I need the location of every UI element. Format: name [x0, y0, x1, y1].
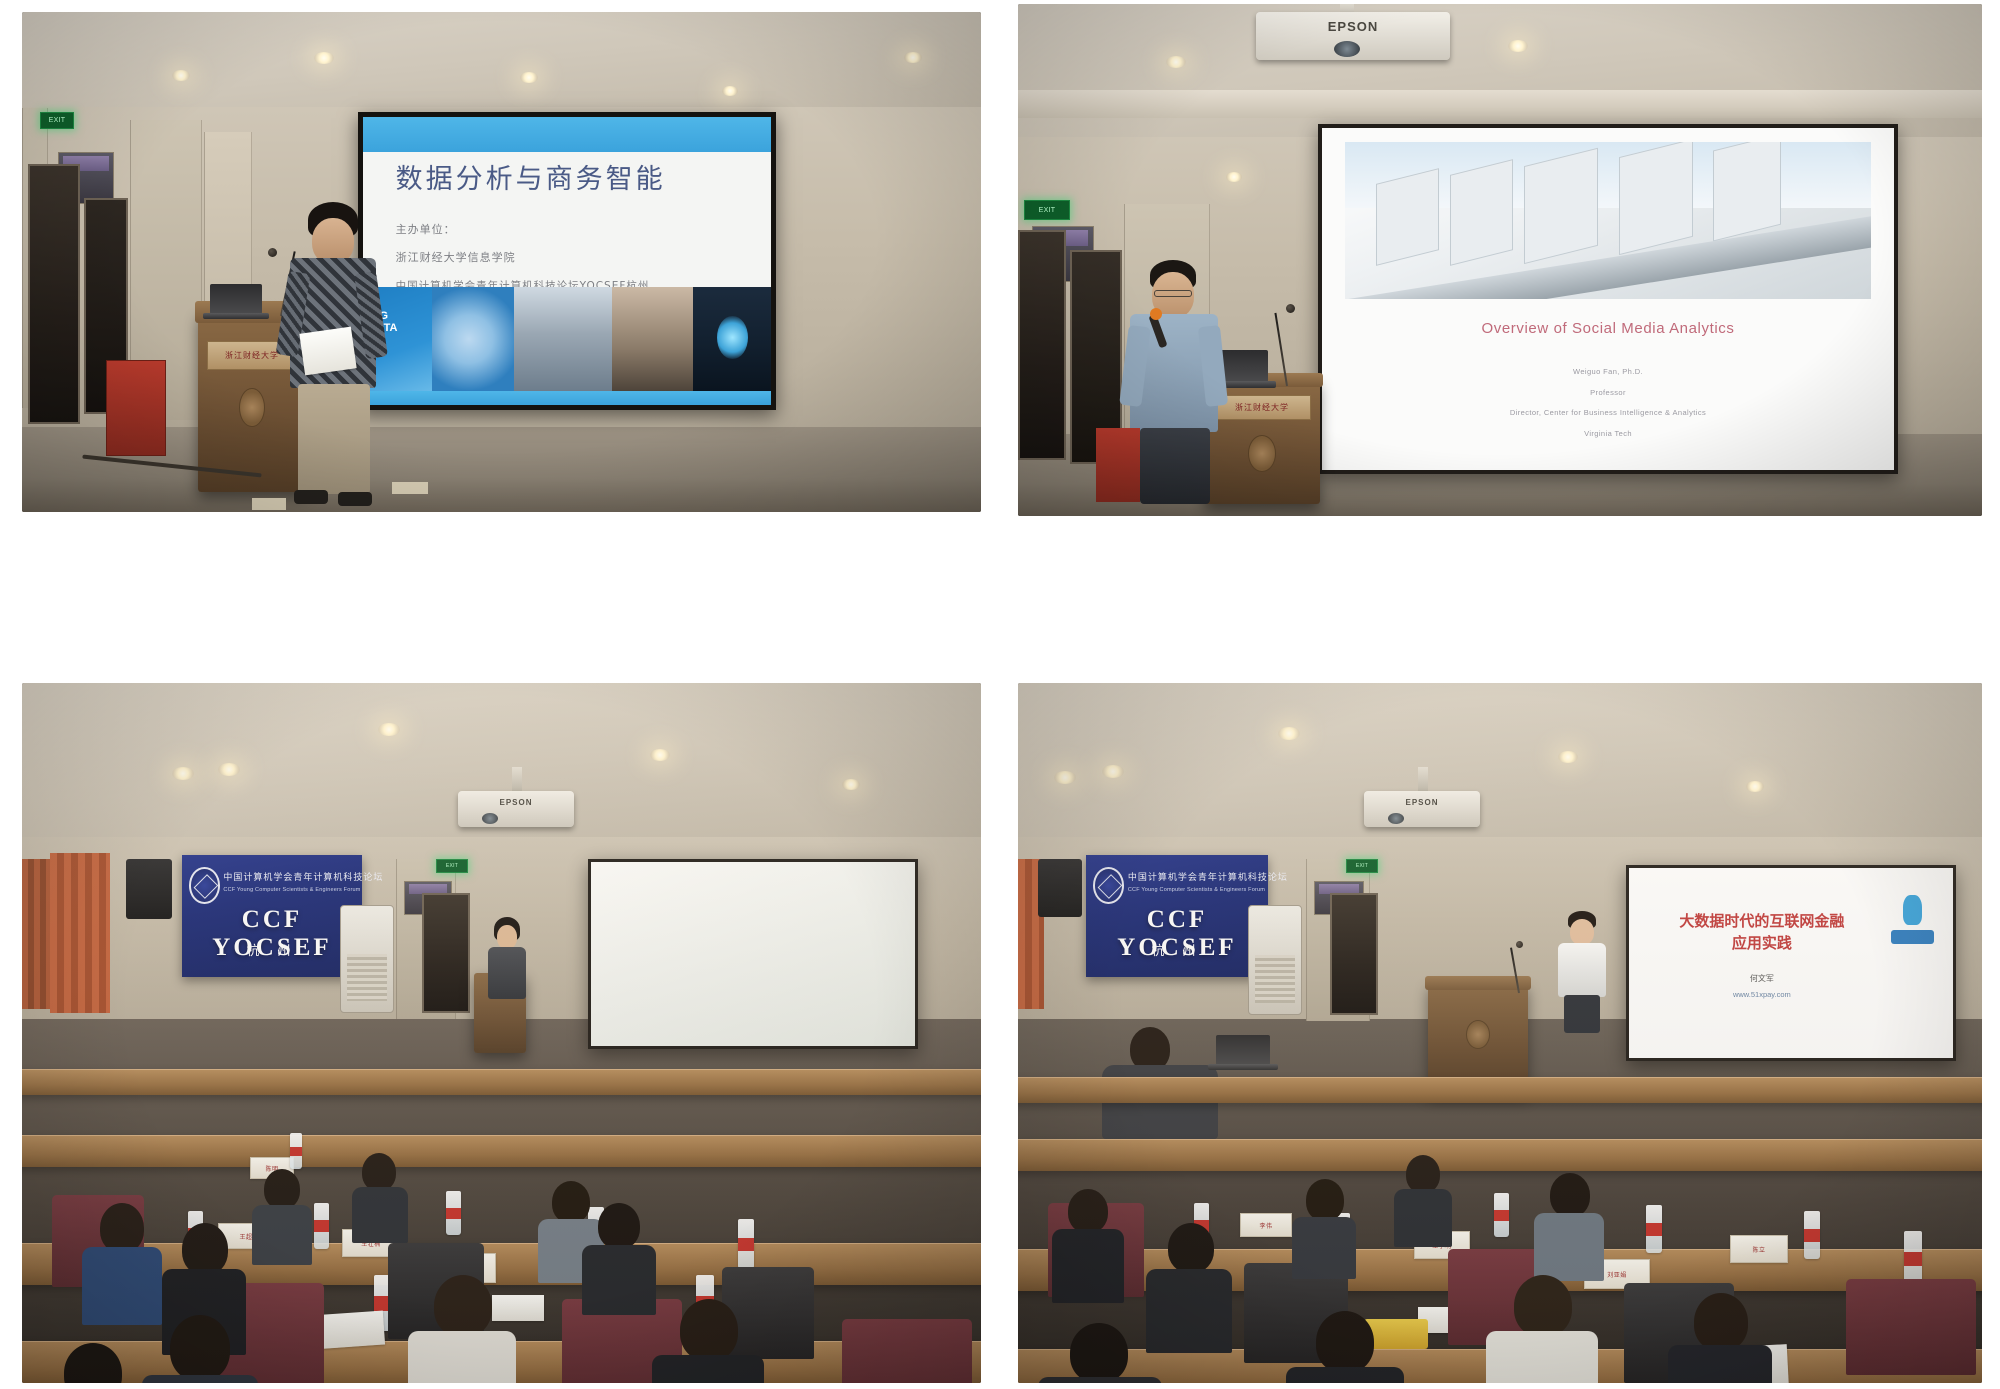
microphone-head — [1286, 304, 1295, 313]
exit-label: EXIT — [41, 113, 73, 128]
audience-member — [1486, 1275, 1598, 1383]
audience-head — [100, 1203, 144, 1253]
water-bottle-icon — [314, 1203, 329, 1249]
ccf-yocsef-banner: 中国计算机学会青年计算机科技论坛 CCF Young Computer Scie… — [1086, 855, 1268, 977]
projector-brand-label: EPSON — [1256, 19, 1450, 34]
audience-member — [1394, 1155, 1452, 1243]
audience-member — [252, 1169, 312, 1261]
fire-extinguisher-box — [1096, 428, 1140, 502]
slide-filmstrip — [363, 287, 771, 391]
audience-desk-row — [22, 1135, 981, 1167]
slide-top-band — [363, 117, 771, 152]
collage-cell-top-right: EPSON EXIT — [1000, 0, 2000, 673]
lecture-room-scene: EPSON EXIT — [1018, 4, 1982, 516]
audience-member — [1286, 1311, 1404, 1383]
banner-city: 杭 州 — [1086, 940, 1268, 959]
slide-image-building — [1376, 168, 1439, 266]
audience-desk-row — [1018, 1139, 1982, 1171]
slide-header-image — [1345, 142, 1871, 299]
audience-body — [1038, 1377, 1162, 1383]
desk-nameplate: 陈立 — [1730, 1235, 1788, 1263]
audience-member — [652, 1299, 764, 1383]
projector-brand-label: EPSON — [1364, 798, 1480, 807]
audience-head — [1514, 1275, 1572, 1337]
lecture-room-scene: EXIT 数据分析与商务智能 主办单位： 浙江财经大学信息学院 中国计算机学会青… — [22, 12, 981, 512]
ceiling-light-icon — [1226, 172, 1242, 182]
audience-head — [1316, 1311, 1374, 1373]
slide-surface: 大数据时代的互联网金融 应用实践 何文军 www.51xpay.com — [1629, 868, 1953, 1058]
lectern-emblem — [1248, 435, 1276, 472]
filmstrip-portrait — [612, 287, 694, 391]
audience-member — [34, 1343, 154, 1383]
exit-label: EXIT — [437, 860, 467, 872]
collage-cell-top-left: EXIT 数据分析与商务智能 主办单位： 浙江财经大学信息学院 中国计算机学会青… — [0, 0, 1000, 673]
projector-lens — [1388, 813, 1404, 824]
water-bottle-icon — [446, 1191, 461, 1235]
projector-icon[interactable]: EPSON — [1256, 12, 1450, 60]
projector-lens — [482, 813, 498, 824]
audience-head — [362, 1153, 396, 1191]
speaker-legs — [1140, 428, 1210, 504]
speaker-figure — [282, 202, 392, 512]
speaker-head — [1570, 919, 1594, 945]
projection-screen: 数据分析与商务智能 主办单位： 浙江财经大学信息学院 中国计算机学会青年计算机科… — [358, 112, 776, 410]
projector-mount — [512, 767, 522, 793]
audience-member — [1292, 1179, 1356, 1275]
ccf-seal-icon — [1093, 867, 1124, 904]
slide-subtitle-line-2: 浙江财经大学信息学院 — [396, 249, 516, 265]
audience-member — [352, 1153, 408, 1239]
slide-line-2: Professor — [1322, 388, 1894, 397]
ceiling-light-icon — [520, 72, 538, 83]
audience-head — [1406, 1155, 1440, 1193]
audience-body — [652, 1355, 764, 1383]
filmstrip-globe — [432, 287, 514, 391]
logo-figure — [1903, 895, 1922, 926]
air-conditioner-icon — [1248, 905, 1302, 1015]
window-curtain — [22, 859, 50, 1009]
air-conditioner-icon — [340, 905, 394, 1013]
speaker-figure — [1128, 260, 1232, 504]
banner-chinese-line: 中国计算机学会青年计算机科技论坛 — [1128, 870, 1261, 883]
filmstrip-people — [514, 287, 612, 391]
microphone-head — [268, 248, 277, 257]
panel-3-photo[interactable]: EPSON 中国计算机学会青年计算机科技论坛 CCF Young Compute… — [22, 683, 981, 1383]
speaker-shoe-left — [294, 490, 328, 504]
lecture-hall-scene: EPSON 中国计算机学会青年计算机科技论坛 CCF Young Compute… — [1018, 683, 1982, 1383]
water-bottle-icon — [1904, 1231, 1922, 1285]
audience-body — [352, 1187, 408, 1243]
slide-line-1: Weiguo Fan, Ph.D. — [1322, 367, 1894, 376]
slide-line-3: Director, Center for Business Intelligen… — [1322, 408, 1894, 417]
money-mascot-logo-icon — [1891, 895, 1933, 944]
presenter-torso — [488, 947, 526, 999]
exit-label: EXIT — [1025, 201, 1069, 219]
banner-english-line: CCF Young Computer Scientists & Engineer… — [1128, 887, 1265, 893]
panel-1-photo[interactable]: EXIT 数据分析与商务智能 主办单位： 浙江财经大学信息学院 中国计算机学会青… — [22, 12, 981, 512]
audience-member — [582, 1203, 656, 1311]
water-bottle-icon — [290, 1133, 302, 1169]
water-bottle-icon — [1494, 1193, 1509, 1237]
projection-screen — [588, 859, 918, 1049]
banner-english-line: CCF Young Computer Scientists & Engineer… — [223, 887, 358, 893]
audience-body — [252, 1205, 312, 1265]
slide-website: www.51xpay.com — [1648, 990, 1875, 999]
ceiling-light-icon — [1166, 56, 1186, 68]
audience-body — [142, 1375, 258, 1383]
speaker-legs — [298, 384, 370, 494]
panel-2-photo[interactable]: EPSON EXIT — [1018, 4, 1982, 516]
ceiling-light-icon — [722, 86, 738, 96]
slide-surface: 数据分析与商务智能 主办单位： 浙江财经大学信息学院 中国计算机学会青年计算机科… — [363, 117, 771, 405]
eyeglasses-icon — [1154, 290, 1192, 297]
audience-member — [1668, 1293, 1772, 1383]
audience-head — [1070, 1323, 1128, 1383]
audience-head — [1694, 1293, 1748, 1351]
filmstrip-server — [693, 287, 771, 391]
audience-body — [1668, 1345, 1772, 1383]
audience-head — [1306, 1179, 1344, 1221]
speaker-figure — [1554, 911, 1610, 1031]
water-bottle-icon — [738, 1219, 754, 1269]
speaker-shoe-right — [338, 492, 372, 506]
speaker-legs — [1564, 995, 1600, 1033]
ceiling-light-icon — [842, 779, 860, 790]
projector-icon[interactable]: EPSON — [1364, 791, 1480, 827]
audience-head — [170, 1315, 230, 1381]
slide-title: 大数据时代的互联网金融 应用实践 — [1648, 910, 1875, 955]
collage-cell-bottom-right: EPSON 中国计算机学会青年计算机科技论坛 CCF Young Compute… — [1000, 673, 2000, 1389]
audience-body — [1394, 1189, 1452, 1247]
ceiling-light-icon — [1054, 771, 1076, 784]
floor-marker — [252, 498, 286, 510]
panel-4-photo[interactable]: EPSON 中国计算机学会青年计算机科技论坛 CCF Young Compute… — [1018, 683, 1982, 1383]
audience-member — [1534, 1173, 1604, 1277]
audience-head — [434, 1275, 492, 1337]
audience-chair — [1846, 1279, 1976, 1375]
audience-body — [1292, 1217, 1356, 1279]
fire-extinguisher-box — [106, 360, 166, 456]
audience-desk-row — [22, 1069, 981, 1095]
audience-body — [408, 1331, 516, 1383]
projector-icon[interactable]: EPSON — [458, 791, 574, 827]
audience-body — [582, 1245, 656, 1315]
ceiling-light-icon — [1102, 765, 1124, 778]
audience-head — [598, 1203, 640, 1249]
speaker-torso — [1558, 943, 1606, 997]
slide-image-building — [1450, 159, 1513, 266]
laptop-icon — [1216, 1035, 1270, 1065]
microphone-head — [1516, 941, 1523, 948]
lecture-hall-scene: EPSON 中国计算机学会青年计算机科技论坛 CCF Young Compute… — [22, 683, 981, 1383]
audience-head — [182, 1223, 228, 1275]
audience-body — [82, 1247, 162, 1325]
window-curtain — [50, 853, 110, 1013]
doorway — [28, 164, 80, 424]
audience-member — [1038, 1323, 1162, 1383]
exit-sign-icon: EXIT — [40, 112, 74, 129]
ceiling-light-icon — [1278, 727, 1300, 740]
exit-sign-icon: EXIT — [436, 859, 468, 873]
audience-head — [64, 1343, 122, 1383]
collage-cell-bottom-left: EPSON 中国计算机学会青年计算机科技论坛 CCF Young Compute… — [0, 673, 1000, 1389]
lectern-emblem — [1466, 1020, 1490, 1049]
projection-screen: 大数据时代的互联网金融 应用实践 何文军 www.51xpay.com — [1626, 865, 1956, 1061]
lectern-emblem — [239, 388, 265, 428]
projector-brand-label: EPSON — [458, 798, 574, 807]
slide-title-line-2: 应用实践 — [1648, 932, 1875, 955]
speaker-box-icon — [1038, 859, 1082, 917]
ceiling-light-icon — [218, 763, 240, 776]
ceiling-light-icon — [1508, 40, 1528, 52]
ceiling-light-icon — [904, 52, 922, 63]
audience-head — [264, 1169, 300, 1209]
doorway — [1330, 893, 1378, 1015]
slide-title: 数据分析与商务智能 — [396, 157, 747, 196]
audience-head — [1550, 1173, 1590, 1217]
slide-image-building — [1619, 142, 1693, 255]
audience-member — [1052, 1189, 1124, 1301]
projector-mount — [1418, 767, 1428, 793]
projection-screen: Overview of Social Media Analytics Weigu… — [1318, 124, 1898, 474]
ceiling-light-icon — [650, 749, 670, 761]
slide-surface: Overview of Social Media Analytics Weigu… — [1322, 128, 1894, 470]
banner-city: 杭 州 — [182, 940, 362, 959]
slide-presenter: 何文军 — [1648, 973, 1875, 984]
laptop-icon — [210, 284, 262, 314]
audience-body — [1486, 1331, 1598, 1383]
ceiling-light-icon — [1558, 751, 1578, 763]
audience-member — [142, 1315, 258, 1383]
presenter-figure — [484, 917, 532, 1017]
exit-label: EXIT — [1347, 860, 1377, 872]
audience-desk-row — [1018, 1077, 1982, 1103]
presenter-head — [497, 925, 517, 949]
slide-title: Overview of Social Media Analytics — [1322, 320, 1894, 337]
banner-chinese-line: 中国计算机学会青年计算机科技论坛 — [223, 870, 354, 883]
projector-lens — [1334, 41, 1360, 57]
audience-head — [680, 1299, 738, 1361]
photo-collage: EXIT 数据分析与商务智能 主办单位： 浙江财经大学信息学院 中国计算机学会青… — [0, 0, 2000, 1389]
speaker-box-icon — [126, 859, 172, 919]
audience-body — [1286, 1367, 1404, 1383]
water-bottle-icon — [1646, 1205, 1662, 1253]
audience-body — [1534, 1213, 1604, 1281]
slide-image-building — [1524, 148, 1598, 264]
slide-subtitle-line-1: 主办单位： — [396, 221, 456, 237]
ceiling-light-icon — [172, 70, 190, 81]
audience-chair — [842, 1319, 972, 1383]
ceiling-soffit — [1018, 90, 1982, 118]
slide-line-4: Virginia Tech — [1322, 429, 1894, 438]
floor-marker — [392, 482, 428, 494]
desk-nameplate: 李伟 — [1240, 1213, 1292, 1237]
exit-sign-icon: EXIT — [1024, 200, 1070, 220]
audience-member — [82, 1203, 162, 1323]
logo-caption-bar — [1891, 930, 1933, 944]
ceiling-light-icon — [378, 723, 400, 736]
ccf-yocsef-banner: 中国计算机学会青年计算机科技论坛 CCF Young Computer Scie… — [182, 855, 362, 977]
audience-head — [1068, 1189, 1108, 1233]
audience-body — [1052, 1229, 1124, 1303]
slide-title-line-1: 大数据时代的互联网金融 — [1648, 910, 1875, 933]
paper-notes — [299, 327, 356, 376]
audience-head — [1168, 1223, 1214, 1273]
water-bottle-icon — [1804, 1211, 1820, 1259]
ceiling-light-icon — [314, 52, 334, 64]
microphone-foam — [1150, 308, 1162, 320]
doorway — [1018, 230, 1066, 460]
slide-image-building — [1713, 142, 1781, 242]
ceiling-light-icon — [1746, 781, 1764, 792]
audience-member — [408, 1275, 516, 1383]
doorway — [422, 893, 470, 1013]
ccf-seal-icon — [189, 867, 220, 904]
exit-sign-icon: EXIT — [1346, 859, 1378, 873]
slide-bottom-band — [363, 391, 771, 405]
ceiling-light-icon — [172, 767, 194, 780]
